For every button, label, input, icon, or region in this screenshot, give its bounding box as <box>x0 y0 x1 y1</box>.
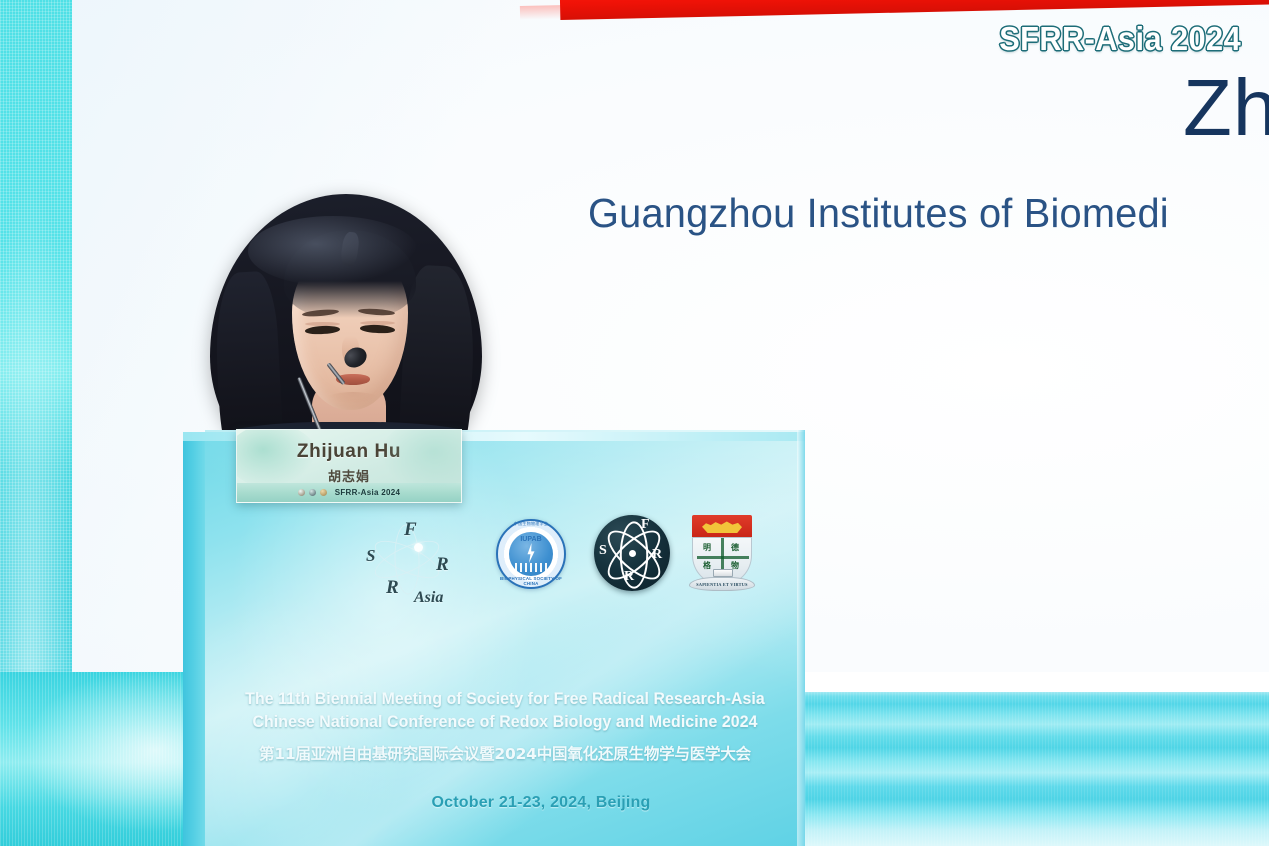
conference-photo-scene: SFRR-Asia 2024 Zh Guangzhou Institutes o… <box>0 0 1269 846</box>
speaker-nameplate: Zhijuan Hu 胡志娟 SFRR-Asia 2024 <box>236 429 462 503</box>
sfrr-letter-r2: R <box>624 569 634 585</box>
hku-lion-icon <box>702 519 742 533</box>
hku-cross-vertical-icon <box>721 538 724 572</box>
hku-cross-horizontal-icon <box>697 556 749 559</box>
projection-screen-extension <box>805 660 1269 692</box>
nameplate-name-english: Zhijuan Hu <box>237 441 461 463</box>
podium-title-chinese: 第11届亚洲自由基研究国际会议暨2024中国氧化还原生物学与医学大会 <box>205 742 805 764</box>
sfrr-asia-letter-s: S <box>366 546 375 566</box>
nameplate-logo-dot2-icon <box>309 489 316 496</box>
sfrr-asia-word-asia: Asia <box>414 589 443 607</box>
podium-title-line-1: The 11th Biennial Meeting of Society for… <box>217 688 793 711</box>
iupab-bottom-text: BIOPHYSICAL SOCIETY OF CHINA <box>496 576 566 586</box>
iupab-bars-icon <box>515 563 547 572</box>
sfrr-logo-icon: F S R R <box>594 515 670 591</box>
sfrr-asia-letter-f: F <box>404 519 417 541</box>
sfrr-letter-r1: R <box>652 547 662 563</box>
iupab-acronym-text: IUPAB <box>496 536 566 543</box>
hair-highlight <box>248 216 418 286</box>
hku-quadrant-1: 明 <box>703 542 711 553</box>
hku-quadrant-2: 德 <box>731 542 739 553</box>
backdrop-right-panel <box>805 690 1269 846</box>
podium-text-block: The 11th Biennial Meeting of Society for… <box>205 688 805 812</box>
nameplate-footer-strip: SFRR-Asia 2024 <box>237 483 461 502</box>
nameplate-logo-dot-icon <box>298 489 305 496</box>
sfrr-asia-letter-r1: R <box>436 554 449 576</box>
slide-affiliation: Guangzhou Institutes of Biomedi <box>588 190 1169 237</box>
hku-quadrant-3: 格 <box>703 560 711 571</box>
sfrr-letter-f: F <box>641 517 650 533</box>
slide-speaker-name: Zh <box>1183 62 1269 154</box>
chin-shadow <box>328 392 378 404</box>
hku-motto-scroll-icon: SAPIENTIA ET VIRTUS <box>689 577 755 591</box>
iupab-top-text: 中国生物物理学会 <box>496 521 566 527</box>
podium-date-location: October 21-23, 2024, Beijing <box>277 794 805 812</box>
nameplate-logo-dot3-icon <box>320 489 327 496</box>
sfrr-letter-s: S <box>599 543 607 559</box>
podium-side-panel <box>183 440 207 846</box>
podium-title-line-2: Chinese National Conference of Redox Bio… <box>217 711 793 734</box>
hku-book-icon <box>713 569 733 577</box>
podium: Zhijuan Hu 胡志娟 SFRR-Asia 2024 S F R R <box>205 430 805 846</box>
sfrr-asia-logo-icon: S F R R Asia <box>360 521 480 621</box>
hku-motto-text: SAPIENTIA ET VIRTUS <box>696 582 747 587</box>
nameplate-strip-label: SFRR-Asia 2024 <box>335 488 401 497</box>
hku-crest-logo-icon: 明 德 格 物 SAPIENTIA ET VIRTUS <box>689 515 755 593</box>
sfrr-nucleus-icon <box>629 550 636 557</box>
hku-lion-band-icon <box>692 515 752 537</box>
iupab-biophysical-society-china-logo-icon: 中国生物物理学会 IUPAB BIOPHYSICAL SOCIETY OF CH… <box>496 519 566 589</box>
sfrr-asia-letter-r2: R <box>386 577 399 599</box>
sfrr-asia-nucleus-icon <box>414 543 423 552</box>
podium-logo-row: S F R R Asia 中国生物物理学会 IUPAB BIOPHYSICAL … <box>205 515 805 625</box>
slide-kicker-text: SFRR-Asia 2024 <box>999 20 1241 58</box>
